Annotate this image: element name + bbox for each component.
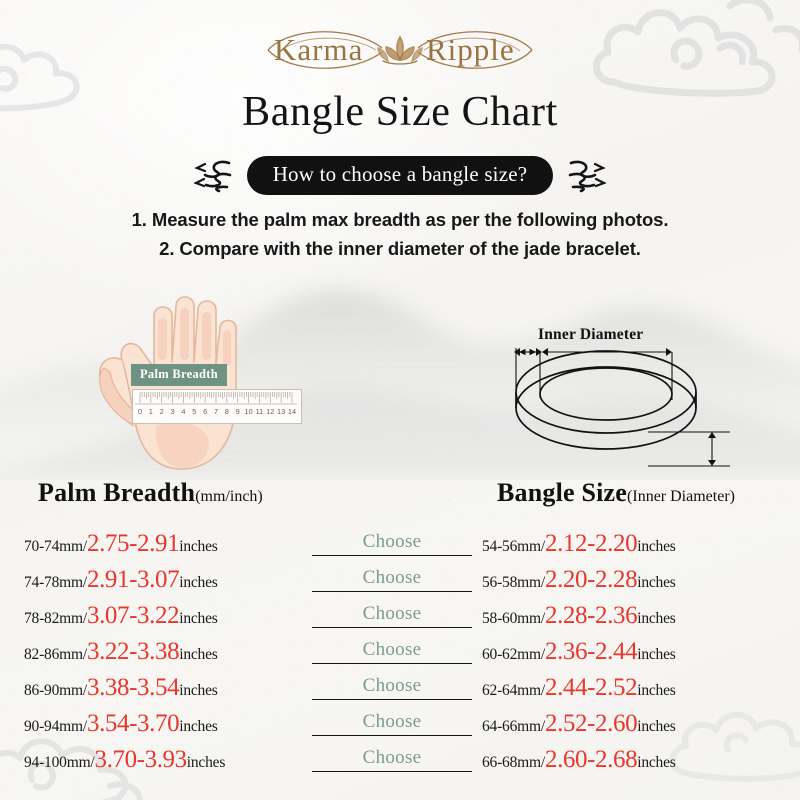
swirl-flourish-icon xyxy=(565,155,607,195)
choose-size-field[interactable]: Choose xyxy=(312,632,472,664)
palm-inch-range: 3.54-3.70 xyxy=(87,710,179,738)
bangle-unit-label: inches xyxy=(637,646,675,664)
lotus-icon xyxy=(378,37,422,64)
palm-breadth-label: Palm Breadth xyxy=(131,364,227,386)
bangle-unit-label: inches xyxy=(637,610,675,628)
palm-breadth-cell: 94-100mm/3.70-3.93inches xyxy=(24,746,310,774)
bangle-mm-range: 58-60mm/ xyxy=(482,610,545,628)
palm-breadth-section-header: Palm Breadth(mm/inch) xyxy=(38,478,263,508)
choose-label: Choose xyxy=(363,640,422,662)
ruler-tick-label: 12 xyxy=(266,407,274,416)
palm-mm-range: 94-100mm/ xyxy=(24,754,95,772)
palm-mm-range: 70-74mm/ xyxy=(24,538,87,556)
ruler-tick-label: 7 xyxy=(214,407,218,416)
ruler-tick-label: 3 xyxy=(171,407,175,416)
bangle-mm-range: 54-56mm/ xyxy=(482,538,545,556)
palm-breadth-cell: 78-82mm/3.07-3.22inches xyxy=(24,602,310,630)
bangle-inner-diameter-illustration: Inner Diameter xyxy=(498,326,748,474)
page-title: Bangle Size Chart xyxy=(0,88,800,136)
howto-banner: How to choose a bangle size? xyxy=(0,155,800,195)
palm-inch-range: 3.70-3.93 xyxy=(95,746,187,774)
choose-label: Choose xyxy=(363,712,422,734)
ruler-tick-label: 13 xyxy=(277,407,285,416)
choose-label: Choose xyxy=(363,748,422,770)
palm-breadth-cell: 70-74mm/2.75-2.91inches xyxy=(24,530,310,558)
bangle-inch-range: 2.12-2.20 xyxy=(545,530,637,558)
bangle-inch-range: 2.20-2.28 xyxy=(545,566,637,594)
palm-mm-range: 74-78mm/ xyxy=(24,574,87,592)
bangle-size-cell: 66-68mm/2.60-2.68inches xyxy=(476,746,782,774)
bangle-size-chart-page: Karma Ripple Bangle Size Chart H xyxy=(0,0,800,800)
bangle-unit-label: inches xyxy=(637,754,675,772)
palm-inch-range: 3.38-3.54 xyxy=(87,674,179,702)
choose-label: Choose xyxy=(363,532,422,554)
bangle-unit-label: inches xyxy=(637,682,675,700)
bangle-inch-range: 2.52-2.60 xyxy=(545,710,637,738)
choose-label: Choose xyxy=(363,568,422,590)
ruler-tick-label: 4 xyxy=(181,407,185,416)
bangle-inch-range: 2.36-2.44 xyxy=(545,638,637,666)
choose-label: Choose xyxy=(363,604,422,626)
palm-inch-range: 3.07-3.22 xyxy=(87,602,179,630)
brand-word-left: Karma xyxy=(274,32,363,67)
bangle-size-cell: 54-56mm/2.12-2.20inches xyxy=(476,530,782,558)
size-row: 82-86mm/3.22-3.38inchesChoose60-62mm/2.3… xyxy=(0,630,800,666)
palm-unit-label: inches xyxy=(179,682,217,700)
instruction-line-2: 2. Compare with the inner diameter of th… xyxy=(0,235,800,264)
ruler-tick-label: 5 xyxy=(192,407,196,416)
palm-inch-range: 2.91-3.07 xyxy=(87,566,179,594)
bangle-ring-drawing xyxy=(498,326,748,474)
palm-mm-range: 86-90mm/ xyxy=(24,682,87,700)
size-row: 70-74mm/2.75-2.91inchesChoose54-56mm/2.1… xyxy=(0,522,800,558)
bangle-mm-range: 66-68mm/ xyxy=(482,754,545,772)
palm-inch-range: 3.22-3.38 xyxy=(87,638,179,666)
size-row: 74-78mm/2.91-3.07inchesChoose56-58mm/2.2… xyxy=(0,558,800,594)
bangle-mm-range: 56-58mm/ xyxy=(482,574,545,592)
choose-size-field[interactable]: Choose xyxy=(312,560,472,592)
palm-inch-range: 2.75-2.91 xyxy=(87,530,179,558)
ruler-tick-label: 0 xyxy=(138,407,142,416)
bangle-mm-range: 62-64mm/ xyxy=(482,682,545,700)
size-row: 78-82mm/3.07-3.22inchesChoose58-60mm/2.2… xyxy=(0,594,800,630)
bangle-mm-range: 60-62mm/ xyxy=(482,646,545,664)
size-row: 90-94mm/3.54-3.70inchesChoose64-66mm/2.5… xyxy=(0,702,800,738)
choose-size-field[interactable]: Choose xyxy=(312,524,472,556)
bangle-inch-range: 2.44-2.52 xyxy=(545,674,637,702)
brand-word-right: Ripple xyxy=(426,32,515,67)
howto-pill-label: How to choose a bangle size? xyxy=(247,156,554,195)
choose-size-field[interactable]: Choose xyxy=(312,704,472,736)
palm-mm-range: 78-82mm/ xyxy=(24,610,87,628)
palm-mm-range: 90-94mm/ xyxy=(24,718,87,736)
choose-label: Choose xyxy=(363,676,422,698)
palm-unit-label: inches xyxy=(187,754,225,772)
size-row: 94-100mm/3.70-3.93inchesChoose66-68mm/2.… xyxy=(0,738,800,774)
bangle-unit-label: inches xyxy=(637,574,675,592)
bangle-inch-range: 2.28-2.36 xyxy=(545,602,637,630)
swirl-flourish-icon xyxy=(193,155,235,195)
ruler-tick-label: 2 xyxy=(160,407,164,416)
ruler-tick-label: 9 xyxy=(236,407,240,416)
ruler-tick-label: 8 xyxy=(225,407,229,416)
bangle-size-header-main: Bangle Size xyxy=(497,478,627,507)
choose-size-field[interactable]: Choose xyxy=(312,596,472,628)
size-row: 86-90mm/3.38-3.54inchesChoose62-64mm/2.4… xyxy=(0,666,800,702)
palm-breadth-header-sub: (mm/inch) xyxy=(195,488,263,505)
bangle-size-cell: 56-58mm/2.20-2.28inches xyxy=(476,566,782,594)
palm-breadth-cell: 82-86mm/3.22-3.38inches xyxy=(24,638,310,666)
palm-unit-label: inches xyxy=(179,574,217,592)
bangle-unit-label: inches xyxy=(637,538,675,556)
bangle-size-cell: 58-60mm/2.28-2.36inches xyxy=(476,602,782,630)
choose-size-field[interactable]: Choose xyxy=(312,668,472,700)
size-chart-table: 70-74mm/2.75-2.91inchesChoose54-56mm/2.1… xyxy=(0,522,800,774)
ruler-tick-label: 14 xyxy=(288,407,296,416)
palm-mm-range: 82-86mm/ xyxy=(24,646,87,664)
brand-logo: Karma Ripple xyxy=(0,20,800,82)
bangle-size-cell: 60-62mm/2.36-2.44inches xyxy=(476,638,782,666)
ruler-tick-label: 10 xyxy=(244,407,252,416)
bangle-size-cell: 64-66mm/2.52-2.60inches xyxy=(476,710,782,738)
ruler-tick-label: 6 xyxy=(203,407,207,416)
instruction-line-1: 1. Measure the palm max breadth as per t… xyxy=(0,206,800,235)
ruler-tick-label: 11 xyxy=(256,407,264,416)
palm-breadth-header-main: Palm Breadth xyxy=(38,478,195,507)
palm-breadth-cell: 90-94mm/3.54-3.70inches xyxy=(24,710,310,738)
ruler-ticks: 01234567891011121314 xyxy=(133,390,299,421)
inner-diameter-label: Inner Diameter xyxy=(538,326,643,344)
ruler-tick-label: 1 xyxy=(149,407,153,416)
bangle-size-cell: 62-64mm/2.44-2.52inches xyxy=(476,674,782,702)
ruler-illustration: 01234567891011121314 xyxy=(132,389,302,424)
bangle-mm-range: 64-66mm/ xyxy=(482,718,545,736)
palm-unit-label: inches xyxy=(179,718,217,736)
choose-size-field[interactable]: Choose xyxy=(312,740,472,772)
palm-breadth-cell: 86-90mm/3.38-3.54inches xyxy=(24,674,310,702)
palm-unit-label: inches xyxy=(179,610,217,628)
instructions-list: 1. Measure the palm max breadth as per t… xyxy=(0,206,800,263)
palm-breadth-cell: 74-78mm/2.91-3.07inches xyxy=(24,566,310,594)
palm-unit-label: inches xyxy=(179,538,217,556)
palm-unit-label: inches xyxy=(179,646,217,664)
bangle-inch-range: 2.60-2.68 xyxy=(545,746,637,774)
bangle-unit-label: inches xyxy=(637,718,675,736)
hand-measurement-illustration: Palm Breadth 01234567891011121314 xyxy=(96,276,326,476)
bangle-size-section-header: Bangle Size(Inner Diameter) xyxy=(497,478,735,508)
bangle-size-header-sub: (Inner Diameter) xyxy=(627,488,735,505)
